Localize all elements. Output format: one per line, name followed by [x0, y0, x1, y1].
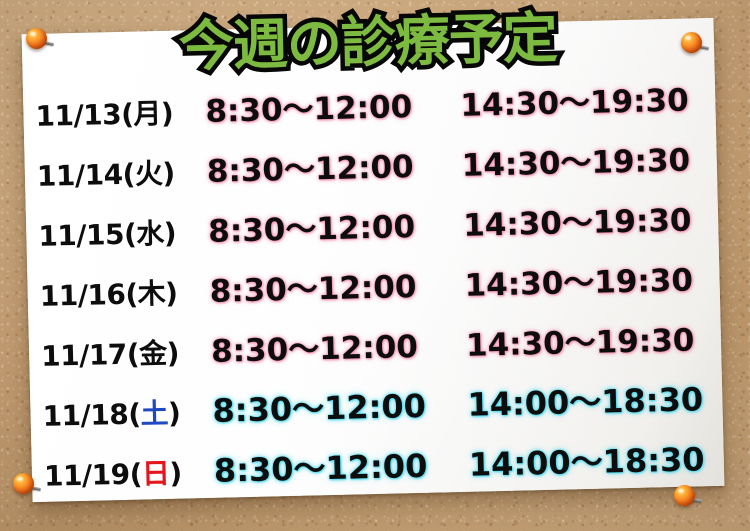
day-of-week: 月: [133, 97, 161, 131]
schedule-date: 11/14(火): [24, 151, 207, 195]
morning-hours: 8:30〜12:00: [206, 141, 432, 191]
day-of-week: 土: [140, 397, 168, 431]
pushpin-head-icon: [681, 32, 702, 53]
day-of-week: 日: [142, 457, 170, 491]
morning-hours: 8:30〜12:00: [212, 381, 438, 432]
paren-close: ): [168, 397, 181, 430]
afternoon-hours: 14:00〜18:30: [438, 434, 705, 486]
afternoon-hours: 14:30〜19:30: [433, 194, 692, 245]
morning-hours: 8:30〜12:00: [211, 321, 437, 371]
pushpin-glint: [17, 477, 23, 482]
date-value: 11/19: [44, 458, 130, 493]
schedule-date: 11/16(木): [27, 271, 210, 315]
paren-open: (: [124, 218, 137, 251]
paren-close: ): [163, 217, 176, 250]
pushpin-bottom-right: [674, 485, 700, 511]
day-of-week: 金: [139, 337, 167, 371]
pushpin-top-right: [681, 32, 707, 58]
afternoon-hours: 14:30〜19:30: [430, 75, 689, 126]
pushpin-glint: [30, 32, 36, 37]
paren-close: ): [162, 157, 175, 190]
schedule-date: 11/19(日): [32, 451, 215, 495]
afternoon-hours: 14:30〜19:30: [434, 254, 693, 305]
pushpin-head-icon: [674, 485, 695, 506]
schedule-poster: 今週の診療予定 11/13(月)8:30〜12:0014:30〜19:3011/…: [22, 18, 725, 502]
date-value: 11/18: [42, 398, 128, 433]
morning-hours: 8:30〜12:00: [208, 201, 434, 251]
paren-close: ): [161, 97, 174, 130]
date-value: 11/16: [39, 278, 125, 313]
day-of-week: 火: [134, 157, 162, 191]
pushpin-top-left: [26, 28, 52, 54]
morning-hours: 8:30〜12:00: [205, 81, 431, 131]
day-of-week: 水: [136, 217, 164, 251]
schedule-date: 11/15(水): [26, 211, 209, 255]
paren-open: (: [125, 278, 138, 311]
pushpin-bottom-left: [13, 473, 39, 499]
date-value: 11/13: [35, 98, 121, 133]
schedule-table: 11/13(月)8:30〜12:0014:30〜19:3011/14(火)8:3…: [23, 74, 725, 510]
pushpin-head-icon: [13, 473, 34, 494]
morning-hours: 8:30〜12:00: [209, 261, 435, 311]
schedule-date: 11/13(月): [23, 91, 206, 135]
afternoon-hours: 14:30〜19:30: [435, 314, 694, 365]
paren-close: ): [169, 457, 182, 490]
afternoon-hours: 14:30〜19:30: [431, 135, 690, 186]
schedule-date: 11/18(土): [30, 391, 213, 435]
paren-open: (: [126, 338, 139, 371]
date-value: 11/14: [37, 158, 123, 193]
paren-close: ): [166, 337, 179, 370]
pushpin-glint: [685, 36, 691, 41]
paren-open: (: [128, 398, 141, 431]
paren-open: (: [129, 458, 142, 491]
pushpin-head-icon: [26, 28, 47, 49]
paren-open: (: [122, 158, 135, 191]
date-value: 11/17: [41, 338, 127, 373]
morning-hours: 8:30〜12:00: [213, 441, 439, 492]
paren-close: ): [165, 277, 178, 310]
date-value: 11/15: [38, 218, 124, 253]
paren-open: (: [121, 98, 134, 131]
pushpin-glint: [678, 489, 684, 494]
afternoon-hours: 14:00〜18:30: [437, 374, 704, 426]
day-of-week: 木: [137, 277, 165, 311]
schedule-date: 11/17(金): [29, 331, 212, 375]
